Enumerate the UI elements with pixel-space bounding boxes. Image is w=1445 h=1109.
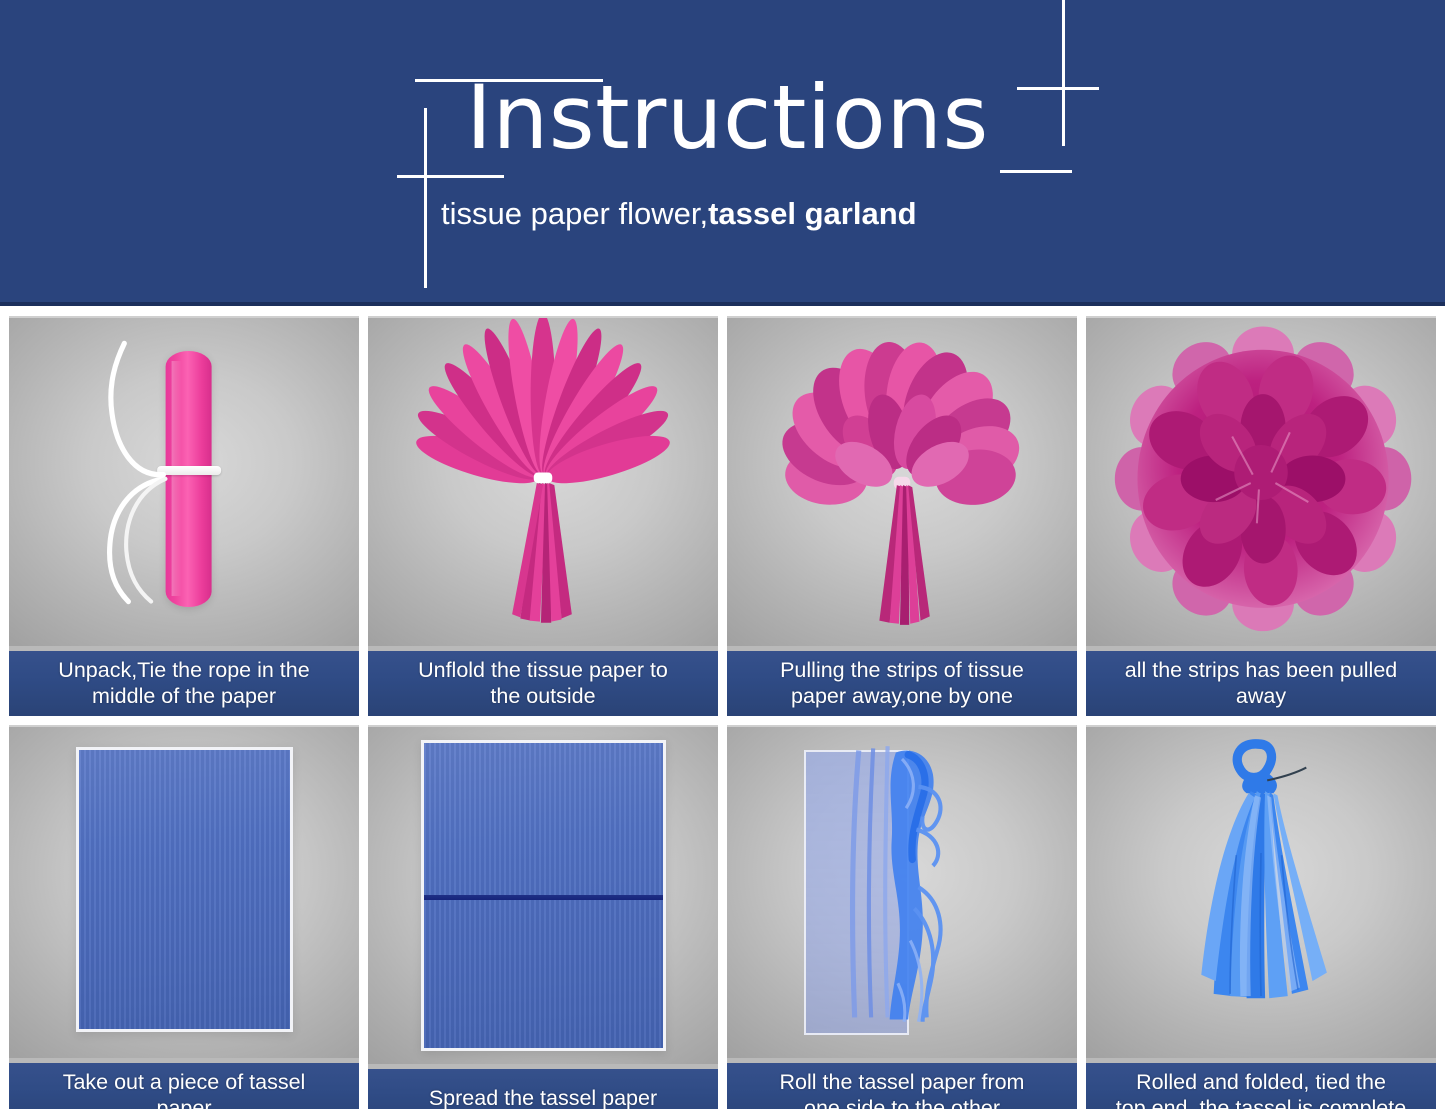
header-rule-under-title [1000,170,1072,173]
step-caption-8: Rolled and folded, tied the top end, the… [1086,1058,1436,1109]
caption-line: all the strips has been pulled [1090,657,1432,683]
caption-line: paper [13,1095,355,1109]
step-photo-1 [9,316,359,646]
white-rope-knot-graphic [157,466,221,475]
step-panel-3: Pulling the strips of tissue paper away,… [727,316,1077,716]
step-photo-3 [727,316,1077,646]
header-crosshair-right-horizontal [1017,87,1099,90]
step-photo-7 [727,725,1077,1058]
step-photo-2 [368,316,718,646]
step-panel-6: Spread the tassel paper [368,725,718,1109]
finished-tassel-graphic [1086,727,1436,1058]
step-panel-2: Unflold the tissue paper to the outside [368,316,718,716]
poster-header: Instructions tissue paper flower,tassel … [0,0,1445,306]
finished-pompom-graphic [1086,318,1436,646]
caption-line: middle of the paper [13,683,355,709]
caption-line: Roll the tassel paper from [731,1069,1073,1095]
step-panel-7: Roll the tassel paper from one side to t… [727,725,1077,1109]
half-pompom-graphic [727,318,1077,646]
caption-line: Unpack,Tie the rope in the [13,657,355,683]
page-subtitle: tissue paper flower,tassel garland [441,196,917,232]
caption-line: Rolled and folded, tied the [1090,1069,1432,1095]
steps-grid: Unpack,Tie the rope in the middle of the… [0,306,1445,1109]
step-photo-5 [9,725,359,1058]
step-photo-6 [368,725,718,1064]
step-caption-5: Take out a piece of tassel paper [9,1058,359,1109]
caption-line: Take out a piece of tassel [13,1069,355,1095]
caption-line: paper away,one by one [731,683,1073,709]
subtitle-bold-text: tassel garland [708,196,916,231]
pink-fan-graphic [368,318,718,646]
caption-line: top end, the tassel is complete [1090,1095,1432,1109]
caption-line: one side to the other [731,1095,1073,1109]
step-panel-5: Take out a piece of tassel paper [9,725,359,1109]
pink-paper-pack-graphic [166,351,212,607]
step-panel-4: all the strips has been pulled away [1086,316,1436,716]
caption-line: away [1090,683,1432,709]
step-caption-7: Roll the tassel paper from one side to t… [727,1058,1077,1109]
header-crosshair-left-horizontal [397,175,504,178]
caption-line: Spread the tassel paper [372,1085,714,1109]
step-panel-8: Rolled and folded, tied the top end, the… [1086,725,1436,1109]
page-title: Instructions [466,74,989,162]
step-photo-8 [1086,725,1436,1058]
instruction-poster: Instructions tissue paper flower,tassel … [0,0,1445,1109]
step-panel-1: Unpack,Tie the rope in the middle of the… [9,316,359,716]
header-crosshair-left-vertical [424,108,427,288]
caption-line: the outside [372,683,714,709]
subtitle-plain-text: tissue paper flower, [441,196,708,231]
blue-tassel-paper-graphic [76,747,293,1032]
step-caption-6: Spread the tassel paper [368,1064,718,1109]
header-crosshair-right-vertical [1062,0,1065,146]
step-caption-1: Unpack,Tie the rope in the middle of the… [9,646,359,716]
centre-fold-line [424,895,663,900]
step-photo-4 [1086,316,1436,646]
step-caption-4: all the strips has been pulled away [1086,646,1436,716]
caption-line: Unflold the tissue paper to [372,657,714,683]
caption-line: Pulling the strips of tissue [731,657,1073,683]
step-caption-2: Unflold the tissue paper to the outside [368,646,718,716]
step-caption-3: Pulling the strips of tissue paper away,… [727,646,1077,716]
rolling-paper-graphic [727,727,1077,1058]
blue-tassel-paper-spread-graphic [421,740,666,1050]
